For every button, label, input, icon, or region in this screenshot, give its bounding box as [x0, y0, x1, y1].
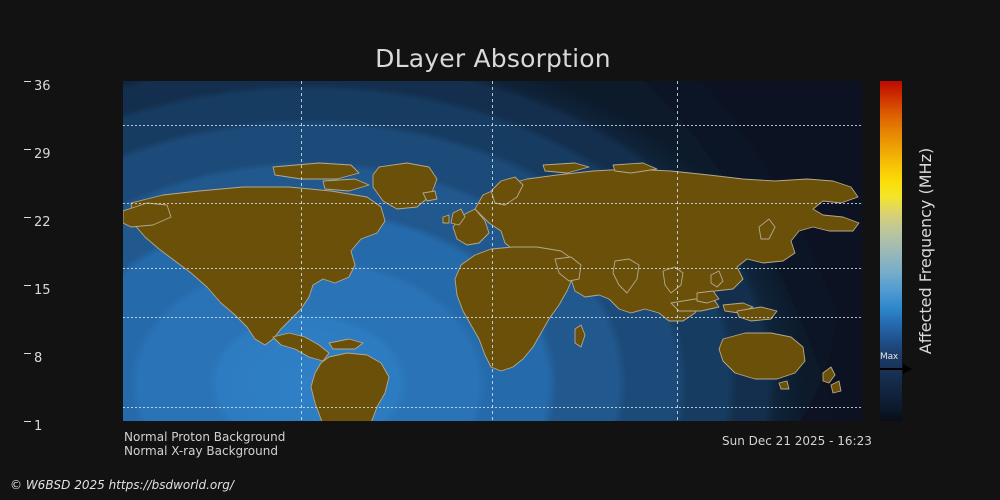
dlayer-absorption-chart: DLayer Absorption: [0, 0, 1000, 500]
colorbar-tick-36: [24, 81, 31, 82]
max-arrow-icon: [879, 363, 913, 375]
colorbar-max-marker: Max: [879, 352, 919, 376]
colorbar-tick-22: [24, 217, 31, 218]
timestamp: Sun Dec 21 2025 - 16:23: [722, 434, 872, 448]
colorbar-label-15: 15: [34, 290, 51, 291]
colorbar-axis-title: Affected Frequency (MHz): [916, 81, 940, 421]
colorbar-tick-8: [24, 353, 31, 354]
world-absorption-map[interactable]: [123, 81, 862, 421]
colorbar-tick-15: [24, 285, 31, 286]
colorbar-label-8: 8: [34, 358, 42, 359]
status-xray-background: Normal X-ray Background: [124, 444, 278, 458]
colorbar-label-29: 29: [34, 154, 51, 155]
colorbar-tick-29: [24, 149, 31, 150]
map-canvas: [123, 81, 862, 421]
copyright-notice: © W6BSD 2025 https://bsdworld.org/: [10, 478, 234, 492]
page-title: DLayer Absorption: [0, 44, 986, 73]
colorbar-label-1: 1: [34, 426, 42, 427]
colorbar-tick-1: [24, 421, 31, 422]
max-marker-label: Max: [880, 352, 898, 362]
colorbar-label-36: 36: [34, 86, 51, 87]
status-proton-background: Normal Proton Background: [124, 430, 285, 444]
colorbar-label-22: 22: [34, 222, 51, 223]
